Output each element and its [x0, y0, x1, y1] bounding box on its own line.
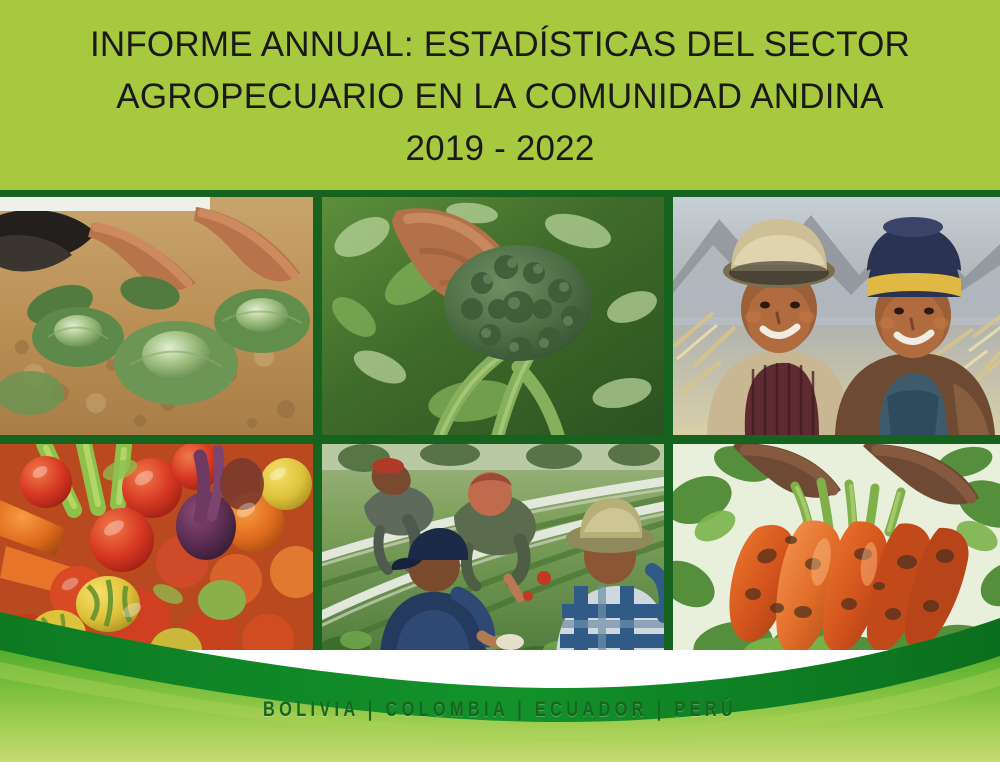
page-title-line-1: INFORME ANNUAL: ESTADÍSTICAS DEL SECTOR — [90, 19, 910, 71]
countries-list: BOLIVIA | COLOMBIA | ECUADOR | PERÚ — [110, 698, 890, 722]
photo-grid — [0, 190, 1000, 650]
page-title-line-2: AGROPECUARIO EN LA COMUNIDAD ANDINA — [116, 71, 883, 123]
report-cover: INFORME ANNUAL: ESTADÍSTICAS DEL SECTOR … — [0, 0, 1000, 762]
photo-broccoli-harvest — [322, 197, 664, 435]
photo-cauliflower-harvest — [0, 197, 313, 435]
page-title-line-3: 2019 - 2022 — [405, 123, 594, 175]
cover-footer: BOLIVIA | COLOMBIA | ECUADOR | PERÚ — [0, 600, 1000, 762]
photo-andean-children — [673, 197, 1000, 435]
cover-header: INFORME ANNUAL: ESTADÍSTICAS DEL SECTOR … — [0, 0, 1000, 190]
